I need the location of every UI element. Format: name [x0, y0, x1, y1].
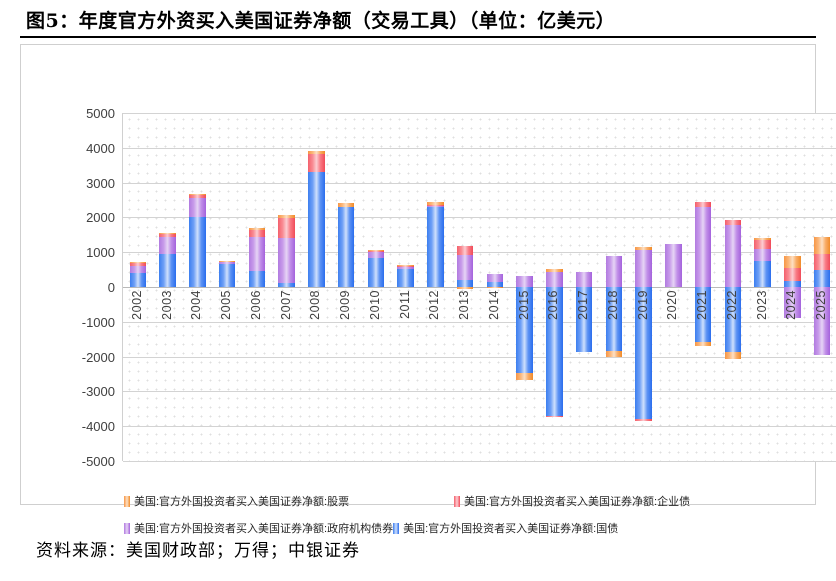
legend-swatch-stock-icon	[124, 496, 130, 507]
bar-series-layer	[123, 113, 836, 461]
bar-segment-treasury	[457, 280, 474, 287]
x-tick-label-2011: 2011	[398, 290, 412, 319]
bar-segment-agency	[606, 256, 623, 287]
bar-group-2003[interactable]	[159, 113, 176, 461]
bar-segment-stock	[427, 202, 444, 204]
bar-segment-corp	[457, 246, 474, 256]
bar-segment-corp	[814, 254, 831, 270]
bar-segment-stock	[695, 342, 712, 346]
bar-segment-treasury	[130, 273, 147, 287]
bar-segment-agency	[487, 274, 504, 282]
legend-row-2: 美国:官方外国投资者买入美国证券净额:政府机构债券 美国:官方外国投资者买入美国…	[124, 520, 824, 536]
bar-group-2009[interactable]	[338, 113, 355, 461]
bar-segment-corp	[427, 205, 444, 206]
bar-segment-corp	[546, 416, 563, 417]
x-tick-label-2012: 2012	[427, 290, 441, 320]
x-tick-label-2016: 2016	[546, 290, 560, 320]
bar-segment-stock	[189, 194, 206, 195]
bar-segment-agency	[189, 198, 206, 217]
bar-segment-agency	[546, 272, 563, 287]
legend-swatch-corp-icon	[454, 496, 460, 507]
bar-segment-stock	[457, 287, 474, 289]
bar-segment-treasury	[308, 172, 325, 287]
legend-item-corp[interactable]: 美国:官方外国投资者买入美国证券净额:企业债	[454, 493, 690, 509]
x-tick-label-2010: 2010	[368, 290, 382, 320]
bar-segment-stock	[606, 351, 623, 357]
x-tick-label-2020: 2020	[665, 290, 679, 320]
bar-group-2011[interactable]	[397, 113, 414, 461]
bar-segment-corp	[725, 220, 742, 226]
bar-group-2002[interactable]	[130, 113, 147, 461]
x-tick-label-2024: 2024	[784, 290, 798, 320]
y-tick-label: 5000	[53, 107, 115, 120]
bar-segment-agency	[516, 276, 533, 287]
bar-group-2025[interactable]	[814, 113, 831, 461]
figure-title: 图5：年度官方外资买入美国证券净额（交易工具）（单位：亿美元）	[26, 6, 816, 33]
legend-row-1: 美国:官方外国投资者买入美国证券净额:股票 美国:官方外国投资者买入美国证券净额…	[124, 493, 824, 509]
x-tick-label-2006: 2006	[249, 290, 263, 320]
bar-segment-treasury	[368, 258, 385, 287]
legend-label-stock: 美国:官方外国投资者买入美国证券净额:股票	[134, 493, 349, 509]
bar-segment-agency	[576, 272, 593, 287]
y-tick-label: 2000	[53, 211, 115, 224]
x-tick-label-2018: 2018	[606, 290, 620, 320]
bar-segment-agency	[754, 249, 771, 261]
bar-group-2015[interactable]	[516, 113, 533, 461]
bar-segment-treasury	[219, 264, 236, 287]
bar-segment-stock	[814, 237, 831, 254]
legend-item-stock[interactable]: 美国:官方外国投资者买入美国证券净额:股票	[124, 493, 454, 509]
y-tick-label: 4000	[53, 142, 115, 155]
x-tick-label-2023: 2023	[755, 290, 769, 320]
bar-segment-agency	[159, 237, 176, 253]
y-tick-label: 0	[53, 281, 115, 294]
x-tick-label-2019: 2019	[636, 290, 650, 320]
bar-segment-agency	[635, 250, 652, 287]
bar-segment-stock	[635, 247, 652, 250]
bar-segment-stock	[784, 256, 801, 268]
bar-segment-agency	[249, 237, 266, 271]
bar-segment-stock	[368, 250, 385, 251]
bar-segment-stock	[219, 261, 236, 262]
bar-group-2008[interactable]	[308, 113, 325, 461]
bar-group-2007[interactable]	[278, 113, 295, 461]
bar-group-2019[interactable]	[635, 113, 652, 461]
bar-group-2024[interactable]	[784, 113, 801, 461]
y-tick-label: -2000	[53, 351, 115, 364]
x-tick-label-2005: 2005	[219, 290, 233, 320]
bar-segment-stock	[159, 233, 176, 234]
plot-area	[122, 113, 836, 461]
bar-segment-agency	[278, 238, 295, 284]
bar-segment-stock	[278, 215, 295, 218]
source-note: 资料来源：美国财政部；万得；中银证券	[36, 536, 360, 561]
legend-label-agency: 美国:官方外国投资者买入美国证券净额:政府机构债券	[134, 520, 393, 536]
bar-group-2005[interactable]	[219, 113, 236, 461]
bar-group-2013[interactable]	[457, 113, 474, 461]
bar-group-2016[interactable]	[546, 113, 563, 461]
x-tick-label-2017: 2017	[576, 290, 590, 320]
bar-segment-treasury	[159, 254, 176, 287]
x-tick-label-2009: 2009	[338, 290, 352, 320]
bar-group-2023[interactable]	[754, 113, 771, 461]
x-tick-label-2021: 2021	[695, 290, 709, 320]
bar-segment-treasury	[754, 261, 771, 287]
bar-segment-treasury	[427, 207, 444, 287]
bar-segment-stock	[725, 352, 742, 359]
bar-segment-stock	[546, 269, 563, 272]
x-tick-label-2025: 2025	[814, 290, 828, 320]
bar-group-2018[interactable]	[606, 113, 623, 461]
bar-segment-corp	[278, 218, 295, 238]
y-tick-label: 1000	[53, 246, 115, 259]
bar-segment-stock	[397, 265, 414, 266]
y-tick-label: -3000	[53, 385, 115, 398]
bar-segment-treasury	[397, 269, 414, 287]
bar-segment-agency	[368, 251, 385, 258]
bar-segment-agency	[695, 207, 712, 287]
bar-segment-stock	[754, 238, 771, 240]
x-tick-label-2014: 2014	[487, 290, 501, 320]
bar-segment-stock	[487, 287, 504, 288]
y-tick-label: -4000	[53, 420, 115, 433]
legend-swatch-agency-icon	[124, 523, 130, 534]
bar-segment-agency	[397, 267, 414, 269]
bar-segment-agency	[130, 266, 147, 273]
bar-group-2006[interactable]	[249, 113, 266, 461]
bar-segment-corp	[784, 268, 801, 281]
bar-segment-corp	[130, 263, 147, 266]
bar-segment-stock	[516, 373, 533, 380]
x-tick-label-2007: 2007	[279, 290, 293, 320]
bar-segment-treasury	[189, 217, 206, 287]
bar-group-2017[interactable]	[576, 113, 593, 461]
legend-label-treasury: 美国:官方外国投资者买入美国证券净额:国债	[403, 520, 618, 536]
x-tick-label-2002: 2002	[130, 290, 144, 320]
x-tick-label-2008: 2008	[308, 290, 322, 320]
x-tick-label-2015: 2015	[517, 290, 531, 320]
bar-segment-corp	[754, 240, 771, 248]
legend-item-treasury[interactable]: 美国:官方外国投资者买入美国证券净额:国债	[393, 520, 618, 536]
chart-container: 500040003000200010000-1000-2000-3000-400…	[20, 44, 816, 505]
bar-group-2014[interactable]	[487, 113, 504, 461]
figure-page: 图5：年度官方外资买入美国证券净额（交易工具）（单位：亿美元） 50004000…	[0, 0, 836, 581]
x-tick-label-2013: 2013	[457, 290, 471, 320]
bar-segment-agency	[725, 225, 742, 287]
bar-segment-stock	[338, 203, 355, 207]
bar-segment-stock	[308, 151, 325, 155]
y-tick-label: -1000	[53, 316, 115, 329]
x-tick-label-2004: 2004	[189, 290, 203, 320]
bar-segment-treasury	[249, 271, 266, 287]
bar-segment-treasury	[814, 270, 831, 287]
bar-group-2021[interactable]	[695, 113, 712, 461]
legend-label-corp: 美国:官方外国投资者买入美国证券净额:企业债	[464, 493, 690, 509]
gridline	[123, 461, 836, 462]
bar-group-2012[interactable]	[427, 113, 444, 461]
legend-item-agency[interactable]: 美国:官方外国投资者买入美国证券净额:政府机构债券	[124, 520, 393, 536]
bar-segment-corp	[695, 202, 712, 206]
title-divider	[20, 36, 816, 38]
bar-segment-corp	[308, 154, 325, 172]
bar-segment-treasury	[278, 283, 295, 287]
bar-group-2010[interactable]	[368, 113, 385, 461]
x-tick-label-2022: 2022	[725, 290, 739, 320]
y-tick-label: 3000	[53, 177, 115, 190]
bar-segment-corp	[189, 195, 206, 197]
bar-group-2020[interactable]	[665, 113, 682, 461]
bar-segment-corp	[159, 234, 176, 237]
bar-segment-treasury	[338, 207, 355, 287]
legend-swatch-treasury-icon	[393, 523, 399, 534]
bar-group-2022[interactable]	[725, 113, 742, 461]
y-tick-label: -5000	[53, 455, 115, 468]
bar-segment-agency	[427, 206, 444, 207]
bar-segment-stock	[130, 262, 147, 263]
x-tick-label-2003: 2003	[160, 290, 174, 320]
bar-segment-agency	[457, 255, 474, 279]
bar-segment-corp	[249, 230, 266, 237]
bar-segment-corp	[635, 419, 652, 421]
bar-group-2004[interactable]	[189, 113, 206, 461]
bar-segment-stock	[249, 228, 266, 229]
bar-segment-agency	[665, 244, 682, 287]
